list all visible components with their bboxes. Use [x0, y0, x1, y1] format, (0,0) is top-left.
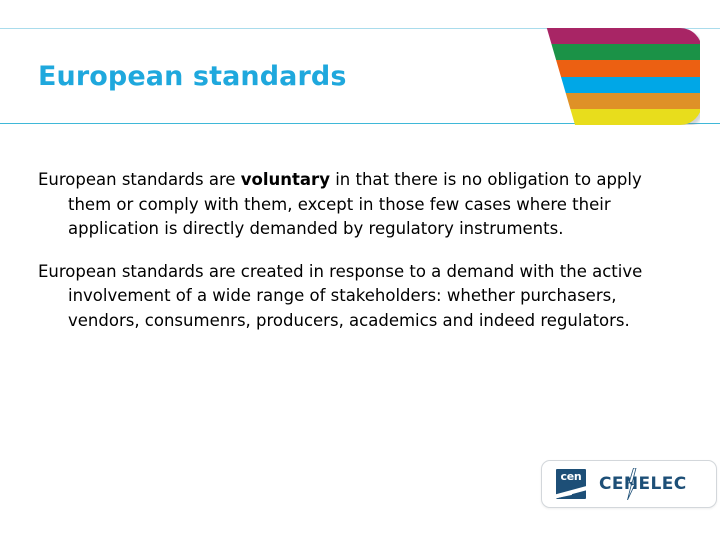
slide-body: European standards are voluntary in that… [38, 168, 663, 351]
stripe-cyan [536, 77, 700, 93]
stripe-amber [536, 93, 700, 109]
rainbow-flag-decoration [530, 28, 700, 125]
paragraph-1-emphasis: voluntary [241, 170, 330, 189]
slide-canvas: European standards European standards ar… [0, 0, 720, 540]
stripe-orange-red [536, 60, 700, 76]
cenelec-wordmark: CENELEC [599, 475, 687, 493]
rainbow-flag [536, 28, 700, 125]
body-paragraph-2: European standards are created in respon… [38, 260, 663, 334]
stripe-magenta [536, 28, 700, 44]
cenelec-logo: cen CENELEC [541, 460, 717, 508]
page-title: European standards [38, 60, 347, 94]
paragraph-2-lead: European standards are created in respon… [38, 262, 642, 330]
cen-logo-icon: cen [556, 469, 586, 499]
cen-mark-label: cen [556, 471, 586, 483]
stripe-yellow [536, 109, 700, 125]
body-paragraph-1: European standards are voluntary in that… [38, 168, 663, 242]
cenelec-wordmark-text: CENELEC [599, 474, 687, 494]
paragraph-1-lead: European standards are [38, 170, 241, 189]
stripe-green [536, 44, 700, 60]
